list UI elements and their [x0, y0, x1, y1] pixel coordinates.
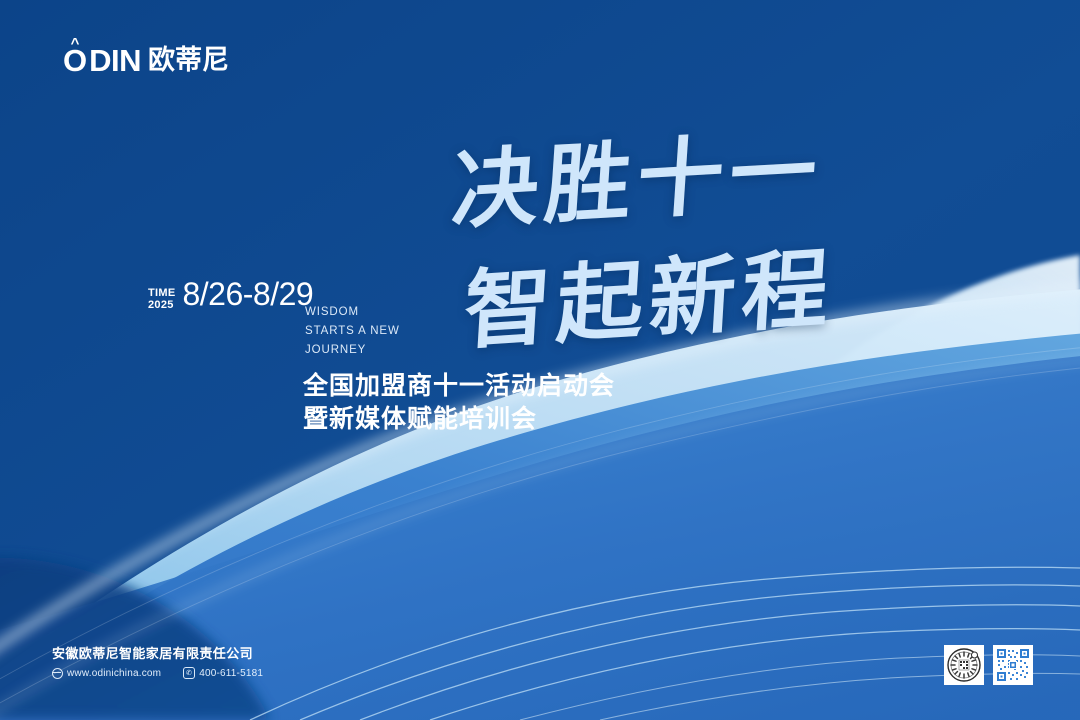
website-url: www.odinichina.com [67, 668, 161, 679]
tagline-line-2: STARTS A NEW [305, 322, 400, 341]
logo-o-letter: ^ O [63, 45, 87, 76]
square-qr-icon [995, 647, 1031, 683]
english-tagline: WISDOM STARTS A NEW JOURNEY [305, 303, 400, 360]
qr-code-group [944, 645, 1033, 685]
logo-latin-text: DIN [89, 45, 141, 76]
brand-logo: ^ O DIN 欧蒂尼 [63, 45, 229, 76]
event-date-range: 8/26-8/29 [182, 278, 313, 310]
subtitle-line-2: 暨新媒体赋能培训会 [303, 403, 615, 436]
tagline-line-1: WISDOM [305, 303, 400, 322]
subtitle-line-1: 全国加盟商十一活动启动会 [303, 370, 615, 403]
footer-block: 安徽欧蒂尼智能家居有限责任公司 www.odinichina.com ✆ 400… [52, 645, 263, 679]
phone-contact[interactable]: ✆ 400-611-5181 [183, 667, 263, 679]
tagline-line-3: JOURNEY [305, 341, 400, 360]
event-date-label: TIME 2025 [148, 287, 175, 311]
website-contact[interactable]: www.odinichina.com [52, 668, 161, 679]
event-subtitle: 全国加盟商十一活动启动会 暨新媒体赋能培训会 [303, 370, 615, 436]
wechat-mini-program-qr[interactable] [993, 645, 1033, 685]
logo-chinese-text: 欧蒂尼 [148, 47, 229, 74]
wechat-official-account-qr[interactable] [944, 645, 984, 685]
globe-icon [52, 668, 63, 679]
event-date-label-time: TIME [148, 287, 175, 299]
event-date-label-year: 2025 [148, 299, 175, 311]
circular-qr-icon [946, 647, 982, 683]
poster-canvas: ^ O DIN 欧蒂尼 决胜十一 智起新程 TIME 2025 8/26-8/2… [0, 0, 1080, 720]
logo-circumflex-icon: ^ [71, 36, 80, 51]
phone-number: 400-611-5181 [199, 668, 263, 679]
phone-icon: ✆ [183, 667, 195, 679]
event-date-block: TIME 2025 8/26-8/29 [148, 278, 313, 311]
contact-row: www.odinichina.com ✆ 400-611-5181 [52, 667, 263, 679]
hero-title: 决胜十一 智起新程 [440, 108, 910, 338]
company-name: 安徽欧蒂尼智能家居有限责任公司 [52, 645, 263, 662]
